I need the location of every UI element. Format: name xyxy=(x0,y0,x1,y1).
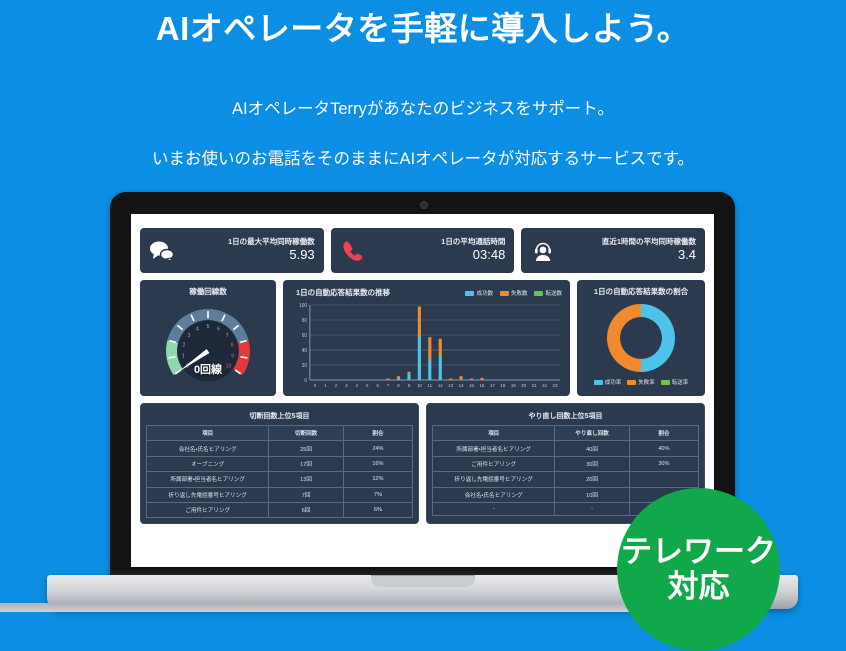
y-axis-tick-label: 40 xyxy=(302,348,308,354)
table-header-cell: やり直し回数 xyxy=(555,426,629,441)
bar-chart-title: 1日の自動応答結果数の推移 xyxy=(292,287,390,298)
x-axis-tick-label: 21 xyxy=(532,383,537,388)
table-cell: 折り返し先電話番号ヒアリング xyxy=(147,487,269,502)
table-cell: ご用件ヒアリング xyxy=(433,456,555,471)
legend-swatch xyxy=(500,291,509,296)
y-axis-tick-label: 80 xyxy=(302,318,308,324)
x-axis-tick-label: 18 xyxy=(500,383,505,388)
table-cell xyxy=(629,472,698,487)
y-axis-tick-label: 20 xyxy=(302,363,308,369)
gauge-tick-label: 2 xyxy=(182,343,185,349)
kpi-value: 3.4 xyxy=(558,247,696,263)
donut-slice xyxy=(641,304,675,372)
bar-segment xyxy=(407,372,410,374)
bar-segment xyxy=(428,359,431,380)
page-title: AIオペレータを手軽に導入しよう。 xyxy=(0,0,846,51)
laptop-screen: 1日の最大平均同時稼働数 5.93 1日の平均通話時間 03:48 xyxy=(131,214,714,567)
x-axis-tick-label: 1 xyxy=(324,383,327,388)
table-cell: 30% xyxy=(629,456,698,471)
tables-row: 切断回数上位5項目 項目切断回数割合会社名・氏名ヒアリング25回24%オープニン… xyxy=(140,403,705,524)
x-axis-tick-label: 17 xyxy=(490,383,495,388)
table-cell: オープニング xyxy=(147,456,269,471)
gauge-tick-label: 8 xyxy=(231,343,234,349)
x-axis-tick-label: 3 xyxy=(345,383,348,388)
bar-chart-svg: 0204060801000123456789101112131415161718… xyxy=(289,300,564,392)
legend-swatch xyxy=(594,380,603,385)
table-header-row: 項目やり直し回数割合 xyxy=(433,426,699,441)
x-axis-tick-label: 8 xyxy=(397,383,400,388)
x-axis-tick-label: 2 xyxy=(335,383,338,388)
legend-label: 成功数 xyxy=(476,289,493,297)
legend-item[interactable]: 成功率 xyxy=(594,378,622,386)
badge-line-1: テレワーク xyxy=(621,535,776,570)
badge-line-2: 対応 xyxy=(668,570,730,605)
webcam-icon xyxy=(420,201,428,209)
table-cell: 会社名・氏名ヒアリング xyxy=(433,487,555,502)
x-axis-tick-label: 13 xyxy=(448,383,453,388)
kpi-label: 直近1時間の平均同時稼働数 xyxy=(558,238,696,247)
table-cell: ご用件ヒアリング xyxy=(147,502,269,517)
kpi-card-max-concurrent[interactable]: 1日の最大平均同時稼働数 5.93 xyxy=(140,228,324,273)
gauge-tick-label: 5 xyxy=(207,324,210,330)
laptop-base-edge xyxy=(0,603,727,612)
chat-bubbles-icon xyxy=(147,236,177,266)
table-cell: 10回 xyxy=(555,487,629,502)
gauge-panel[interactable]: 稼働回線数 012345678910 0回線 xyxy=(140,280,276,396)
table-cell: 40% xyxy=(629,441,698,456)
table-row[interactable]: 所属部署・担当者名ヒアリング13回12% xyxy=(147,472,413,487)
table-cell: 所属部署・担当者名ヒアリング xyxy=(147,472,269,487)
bar-segment xyxy=(397,379,400,381)
bar-segment xyxy=(418,307,421,337)
kpi-value: 5.93 xyxy=(177,247,315,263)
table-cell: 16% xyxy=(343,456,412,471)
donut-legend: 成功率失敗率転送率 xyxy=(583,377,699,386)
donut-svg xyxy=(603,300,679,376)
table-cell: 30回 xyxy=(555,456,629,471)
bar-segment xyxy=(387,379,390,380)
table-row[interactable]: ご用件ヒアリング6回6% xyxy=(147,502,413,517)
bar-segment xyxy=(418,337,421,381)
gauge-tick-label: 4 xyxy=(196,326,199,332)
table-row[interactable]: オープニング17回16% xyxy=(147,456,413,471)
gauge-tick-label: 6 xyxy=(217,326,220,332)
x-axis-tick-label: 12 xyxy=(438,383,443,388)
table-cell: 6% xyxy=(343,502,412,517)
y-axis-tick-label: 60 xyxy=(302,333,308,339)
x-axis-tick-label: 19 xyxy=(511,383,516,388)
table-cell: 6回 xyxy=(269,502,343,517)
table-cell: 20回 xyxy=(555,472,629,487)
gauge-svg: 012345678910 xyxy=(154,301,262,393)
table-header-cell: 項目 xyxy=(433,426,555,441)
donut-slice xyxy=(607,304,641,372)
bar-segment xyxy=(397,376,400,378)
bar-segment xyxy=(449,379,452,380)
legend-item[interactable]: 失敗率 xyxy=(627,378,655,386)
phone-handset-icon xyxy=(338,236,368,266)
table-cell: - xyxy=(433,502,555,515)
table-header-cell: 割合 xyxy=(343,426,412,441)
charts-row: 稼働回線数 012345678910 0回線 1日の自動応答結果数の推移 成功数… xyxy=(140,280,705,396)
bar-segment xyxy=(460,376,463,379)
legend-swatch xyxy=(534,291,543,296)
bar-segment xyxy=(428,337,431,359)
table-cell: 7回 xyxy=(269,487,343,502)
bar-segment xyxy=(470,379,473,380)
x-axis-tick-label: 4 xyxy=(356,383,359,388)
kpi-label: 1日の平均通話時間 xyxy=(368,238,506,247)
x-axis-tick-label: 23 xyxy=(553,383,558,388)
x-axis-tick-label: 22 xyxy=(542,383,547,388)
data-table: 項目切断回数割合会社名・氏名ヒアリング25回24%オープニング17回16%所属部… xyxy=(146,425,413,518)
x-axis-tick-label: 15 xyxy=(469,383,474,388)
legend-item[interactable]: 成功数 xyxy=(465,289,493,297)
bar-chart-panel[interactable]: 1日の自動応答結果数の推移 成功数失敗数転送数 0204060801000123… xyxy=(283,280,570,396)
bar-segment xyxy=(439,356,442,380)
x-axis-tick-label: 14 xyxy=(459,383,464,388)
hero-section: AIオペレータを手軽に導入しよう。 AIオペレータTerryがあなたのビジネスを… xyxy=(0,0,846,171)
bar-segment xyxy=(449,379,452,380)
x-axis-tick-label: 10 xyxy=(417,383,422,388)
legend-swatch xyxy=(627,380,636,385)
table-row[interactable]: 折り返し先電話番号ヒアリング7回7% xyxy=(147,487,413,502)
table-header-cell: 切断回数 xyxy=(269,426,343,441)
table-cell: 折り返し先電話番号ヒアリング xyxy=(433,472,555,487)
legend-label: 失敗率 xyxy=(638,378,655,386)
headset-agent-icon xyxy=(528,236,558,266)
x-axis-tick-label: 16 xyxy=(480,383,485,388)
bar-segment xyxy=(470,379,473,380)
gauge-title: 稼働回線数 xyxy=(146,286,270,297)
table-header-cell: 割合 xyxy=(629,426,698,441)
gauge-value-label: 0回線 xyxy=(146,361,270,377)
table-row[interactable]: 会社名・氏名ヒアリング25回24% xyxy=(147,441,413,456)
table-panel-disconnects[interactable]: 切断回数上位5項目 項目切断回数割合会社名・氏名ヒアリング25回24%オープニン… xyxy=(140,403,419,524)
legend-label: 転送率 xyxy=(672,378,689,386)
gauge-tick-label: 9 xyxy=(231,353,234,359)
table-cell: 所属部署・担当者名ヒアリング xyxy=(433,441,555,456)
table-header-row: 項目切断回数割合 xyxy=(147,426,413,441)
legend-label: 転送数 xyxy=(545,289,562,297)
donut-title: 1日の自動応答結果数の割合 xyxy=(583,286,699,297)
table-cell: 40回 xyxy=(555,441,629,456)
kpi-row: 1日の最大平均同時稼働数 5.93 1日の平均通話時間 03:48 xyxy=(140,228,705,273)
legend-item[interactable]: 失敗数 xyxy=(500,289,528,297)
table-cell: 7% xyxy=(343,487,412,502)
dashboard: 1日の最大平均同時稼働数 5.93 1日の平均通話時間 03:48 xyxy=(131,214,714,567)
y-axis-tick-label: 100 xyxy=(299,303,307,309)
table-row[interactable]: ご用件ヒアリング30回30% xyxy=(433,456,699,471)
kpi-card-avg-call-time[interactable]: 1日の平均通話時間 03:48 xyxy=(331,228,515,273)
table-cell: 12% xyxy=(343,472,412,487)
gauge-tick-label: 1 xyxy=(182,353,185,359)
kpi-label: 1日の最大平均同時稼働数 xyxy=(177,238,315,247)
legend-label: 成功率 xyxy=(605,378,622,386)
gauge-chart: 012345678910 0回線 xyxy=(146,299,270,395)
bar-segment xyxy=(439,339,442,356)
bar-segment xyxy=(387,379,390,380)
x-axis-tick-label: 0 xyxy=(314,383,317,388)
x-axis-tick-label: 9 xyxy=(408,383,411,388)
hero-subtitle-2: いまお使いのお電話をそのままにAIオペレータが対応するサービスです。 xyxy=(0,121,846,171)
laptop-base-notch xyxy=(371,575,475,587)
gauge-tick-label: 7 xyxy=(226,333,229,339)
kpi-value: 03:48 xyxy=(368,247,506,263)
table-header-cell: 項目 xyxy=(147,426,269,441)
y-axis-tick-label: 0 xyxy=(304,378,307,384)
table-row[interactable]: 折り返し先電話番号ヒアリング20回 xyxy=(433,472,699,487)
hero-subtitle-1: AIオペレータTerryがあなたのビジネスをサポート。 xyxy=(0,51,846,121)
donut-chart xyxy=(583,299,699,377)
bar-segment xyxy=(460,379,463,380)
bar-chart-legend: 成功数失敗数転送数 xyxy=(465,289,562,297)
telework-badge[interactable]: テレワーク 対応 xyxy=(617,488,780,651)
legend-swatch xyxy=(465,291,474,296)
table-caption: 切断回数上位5項目 xyxy=(146,408,413,425)
table-cell: 13回 xyxy=(269,472,343,487)
x-axis-tick-label: 6 xyxy=(376,383,379,388)
table-caption: やり直し回数上位5項目 xyxy=(432,408,699,425)
x-axis-tick-label: 5 xyxy=(366,383,369,388)
x-axis-tick-label: 20 xyxy=(521,383,526,388)
bar-segment xyxy=(407,373,410,380)
table-cell: 17回 xyxy=(269,456,343,471)
table-cell: 25回 xyxy=(269,441,343,456)
legend-item[interactable]: 転送数 xyxy=(534,289,562,297)
legend-item[interactable]: 転送率 xyxy=(661,378,689,386)
table-cell: - xyxy=(555,502,629,515)
kpi-card-recent-hour-concurrent[interactable]: 直近1時間の平均同時稼働数 3.4 xyxy=(521,228,705,273)
legend-swatch xyxy=(661,380,670,385)
table-cell: 24% xyxy=(343,441,412,456)
table-row[interactable]: 所属部署・担当者名ヒアリング40回40% xyxy=(433,441,699,456)
x-axis-tick-label: 7 xyxy=(387,383,390,388)
x-axis-tick-label: 11 xyxy=(428,383,433,388)
bar-chart-header: 1日の自動応答結果数の推移 成功数失敗数転送数 xyxy=(289,285,564,300)
donut-panel[interactable]: 1日の自動応答結果数の割合 成功率失敗率転送率 xyxy=(577,280,705,396)
bar-segment xyxy=(480,378,483,380)
gauge-tick-label: 3 xyxy=(187,333,190,339)
legend-label: 失敗数 xyxy=(511,289,528,297)
table-cell: 会社名・氏名ヒアリング xyxy=(147,441,269,456)
bar-segment xyxy=(480,379,483,380)
